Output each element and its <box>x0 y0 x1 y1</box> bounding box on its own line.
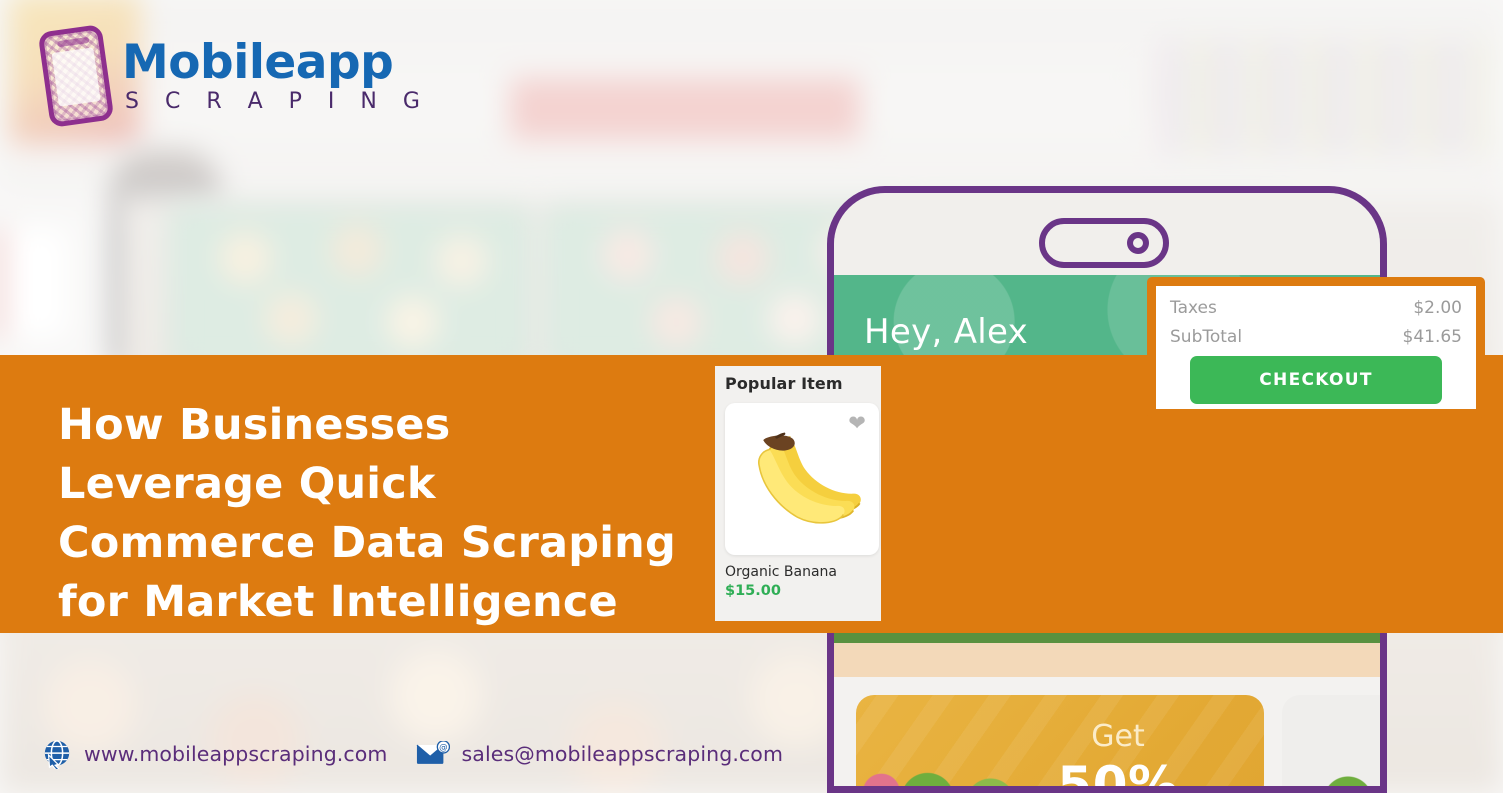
footer-website-link[interactable]: www.mobileappscraping.com <box>42 739 388 769</box>
summary-row-taxes: Taxes $2.00 <box>1170 298 1462 318</box>
mobile-phone-logo-icon <box>38 24 115 128</box>
footer-contact-bar: www.mobileappscraping.com @ sales@mobile… <box>42 739 783 769</box>
promo-card-primary[interactable]: Get 50% OFF On first 03 order <box>856 695 1264 786</box>
globe-icon <box>42 739 72 769</box>
promo-line-get: Get <box>998 719 1238 754</box>
footer-email-text: sales@mobileappscraping.com <box>462 742 784 766</box>
svg-text:@: @ <box>439 743 448 753</box>
brand-logo-text: Mobileapp S C R A P I N G <box>122 39 429 113</box>
product-image-container: ❤ <box>725 403 879 555</box>
checkout-summary-card: Taxes $2.00 SubTotal $41.65 CHECKOUT <box>1147 277 1485 418</box>
brand-logo[interactable]: Mobileapp S C R A P I N G <box>44 28 429 124</box>
heart-icon[interactable]: ❤ <box>846 414 868 434</box>
promo-line-discount: 50% OFF <box>998 756 1238 786</box>
page-title: How Businesses Leverage Quick Commerce D… <box>58 396 678 632</box>
popular-item-card[interactable]: Popular Item ❤ Organic Banana $15.00 <box>706 357 890 630</box>
brand-title: Mobileapp <box>122 39 429 86</box>
email-icon: @ <box>416 741 450 767</box>
popular-item-heading: Popular Item <box>725 374 871 393</box>
footer-email-link[interactable]: @ sales@mobileappscraping.com <box>416 741 784 767</box>
product-name: Organic Banana <box>725 564 871 580</box>
promotions-area: Get 50% OFF On first 03 order <box>834 677 1380 786</box>
app-divider-strip <box>834 643 1380 677</box>
footer-website-text: www.mobileappscraping.com <box>84 742 388 766</box>
promo-text-block: Get 50% OFF On first 03 order <box>998 719 1238 786</box>
subtotal-value: $41.65 <box>1403 327 1462 347</box>
taxes-label: Taxes <box>1170 298 1217 318</box>
banana-bunch-icon <box>734 419 869 545</box>
vegetable-basket-icon <box>1288 741 1380 786</box>
app-greeting: Hey, Alex <box>864 312 1028 352</box>
brand-subtitle: S C R A P I N G <box>122 91 429 113</box>
promo-card-secondary[interactable] <box>1282 695 1380 786</box>
front-camera-icon <box>1127 232 1149 254</box>
dynamic-island-camera-icon <box>1039 218 1169 268</box>
taxes-value: $2.00 <box>1413 298 1462 318</box>
product-price: $15.00 <box>725 583 871 599</box>
subtotal-label: SubTotal <box>1170 327 1242 347</box>
summary-row-subtotal: SubTotal $41.65 <box>1170 327 1462 347</box>
checkout-button[interactable]: CHECKOUT <box>1190 356 1442 404</box>
